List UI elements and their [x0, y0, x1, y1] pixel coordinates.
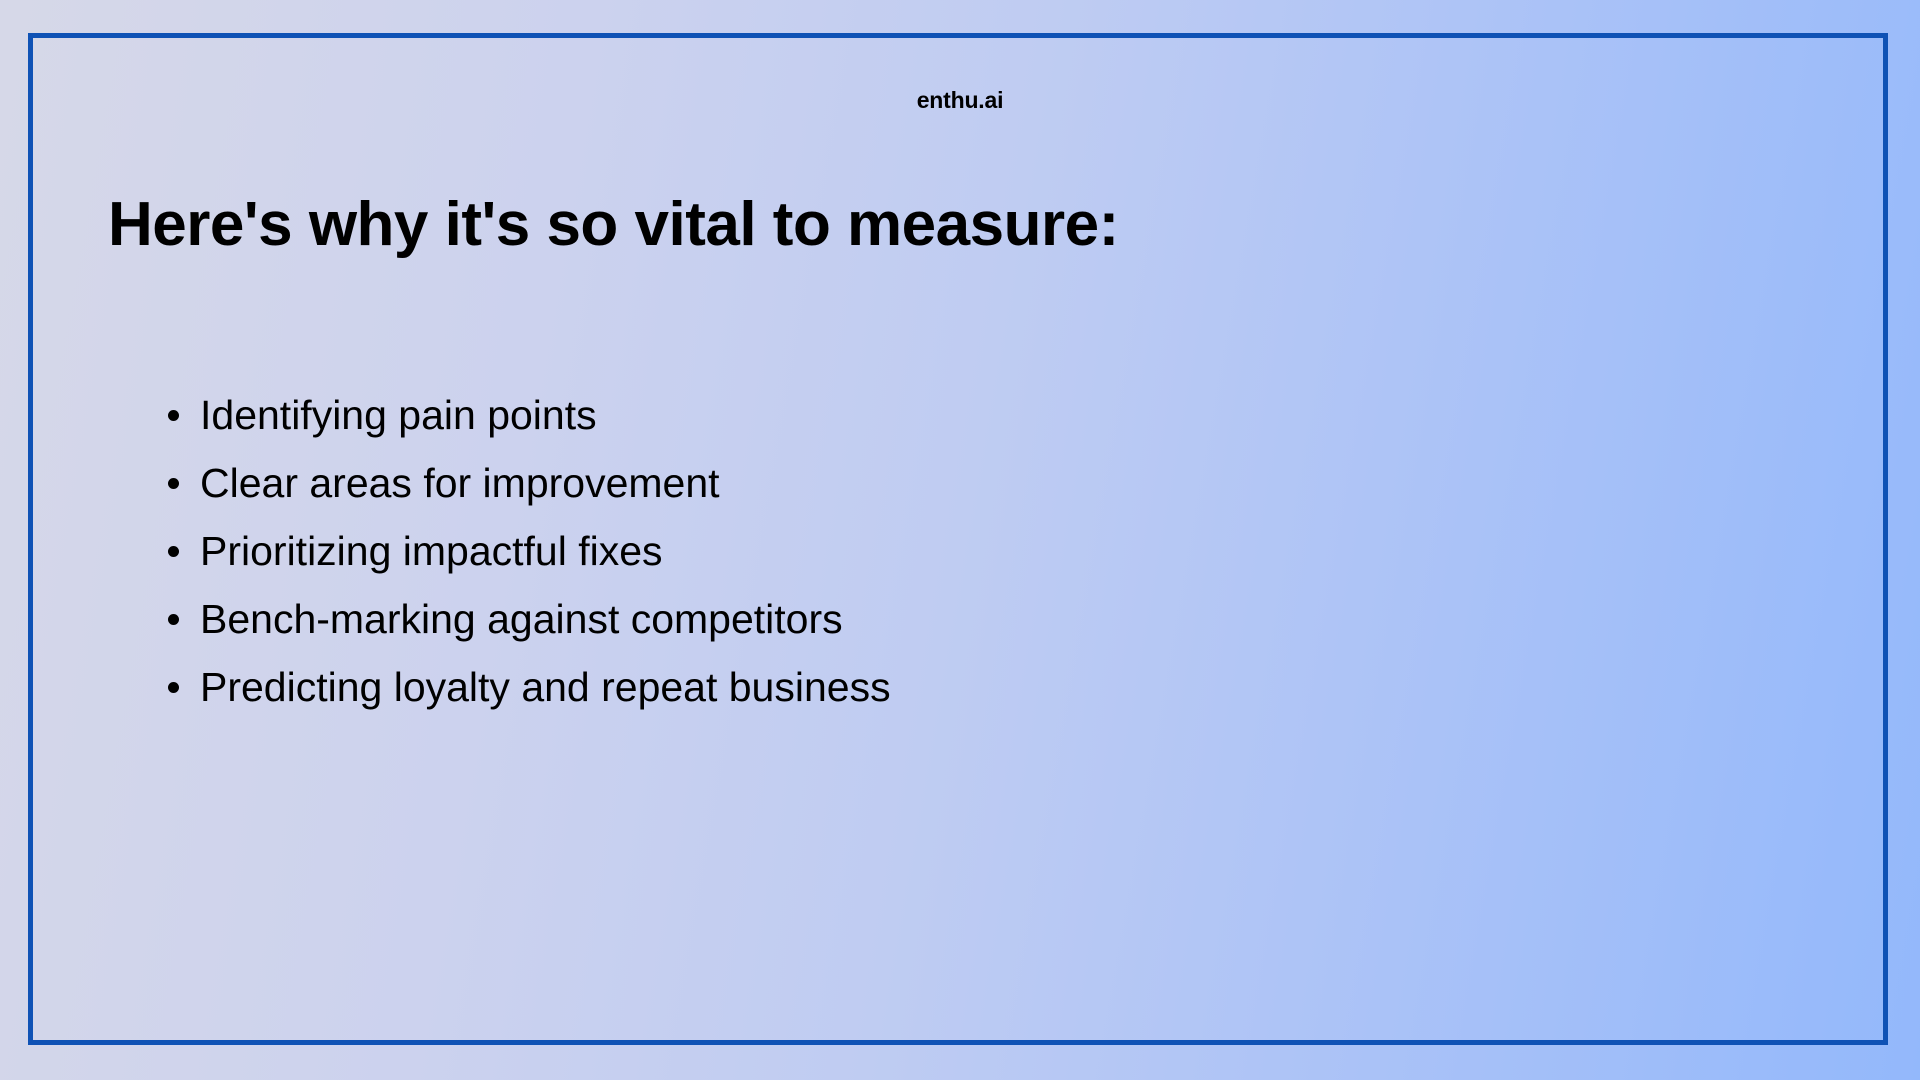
- list-item-label: Predicting loyalty and repeat business: [200, 653, 891, 721]
- benefit-list: Identifying pain points Clear areas for …: [160, 381, 891, 721]
- bullet-icon: [168, 682, 179, 693]
- list-item-label: Clear areas for improvement: [200, 449, 720, 517]
- list-item-label: Bench-marking against competitors: [200, 585, 843, 653]
- list-item: Bench-marking against competitors: [160, 585, 891, 653]
- list-item-label: Prioritizing impactful fixes: [200, 517, 663, 585]
- list-item: Clear areas for improvement: [160, 449, 891, 517]
- bullet-icon: [168, 546, 179, 557]
- presentation-slide: enthu.ai Here's why it's so vital to mea…: [0, 0, 1920, 1080]
- page-title: Here's why it's so vital to measure:: [108, 192, 1119, 259]
- list-item: Identifying pain points: [160, 381, 891, 449]
- list-item: Prioritizing impactful fixes: [160, 517, 891, 585]
- bullet-icon: [168, 478, 179, 489]
- brand-logo: enthu.ai: [0, 89, 1920, 112]
- bullet-icon: [168, 410, 179, 421]
- list-item-label: Identifying pain points: [200, 381, 597, 449]
- list-item: Predicting loyalty and repeat business: [160, 653, 891, 721]
- bullet-icon: [168, 614, 179, 625]
